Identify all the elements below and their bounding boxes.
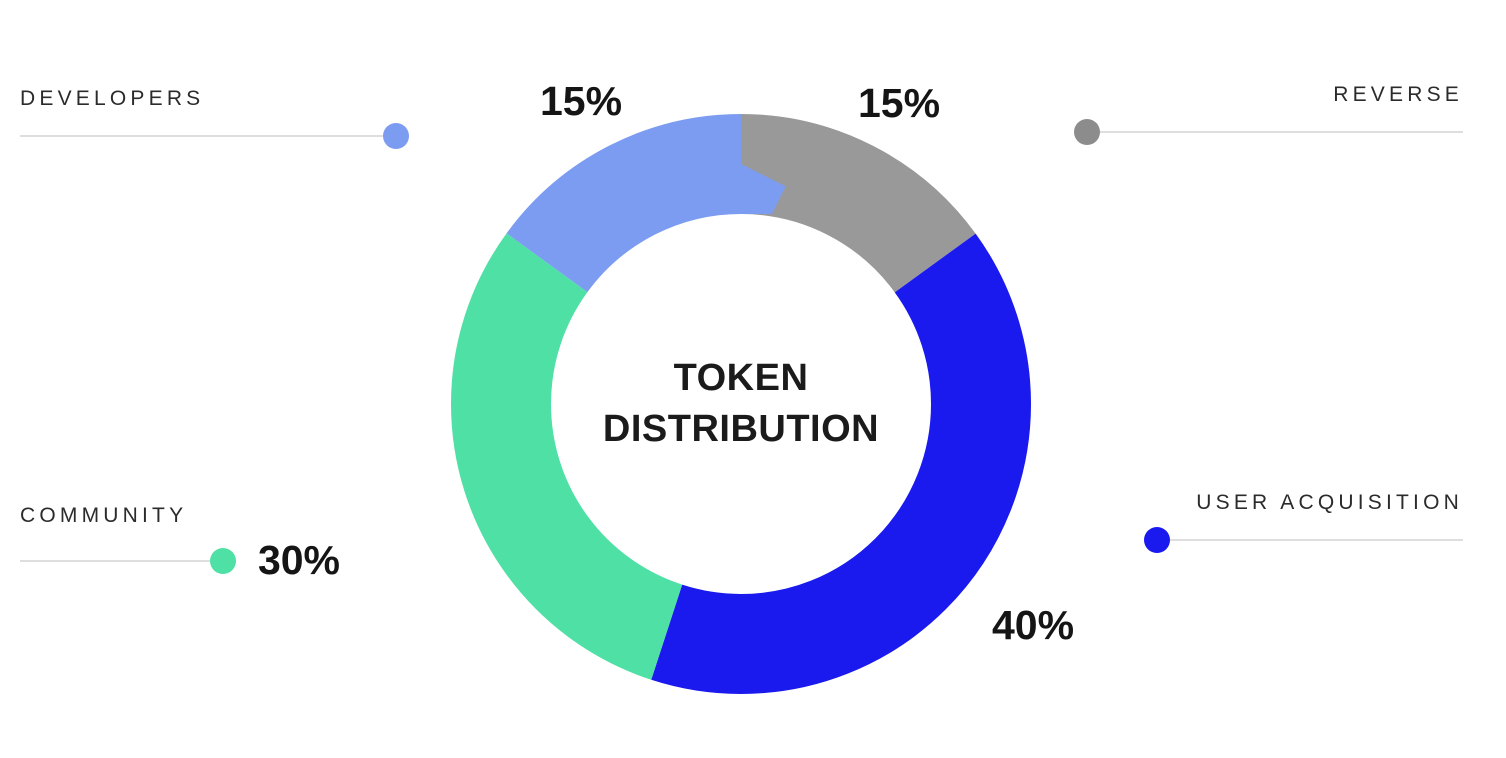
value-community: 30%	[258, 540, 340, 581]
connector-rule	[20, 560, 210, 562]
donut-chart	[451, 114, 1031, 694]
callout-label-developers: DEVELOPERS	[20, 88, 409, 109]
value-reverse: 15%	[858, 83, 940, 124]
legend-dot-reverse	[1074, 119, 1100, 145]
value-developers: 15%	[540, 81, 622, 122]
callout-developers[interactable]: DEVELOPERS	[20, 88, 409, 149]
legend-dot-user-acquisition	[1144, 527, 1170, 553]
callout-line-developers	[20, 123, 409, 149]
callout-label-community: COMMUNITY	[20, 505, 340, 526]
connector-rule	[20, 135, 383, 137]
connector-rule	[1100, 131, 1463, 133]
donut-segments	[501, 164, 981, 644]
callout-reverse[interactable]: REVERSE	[1074, 84, 1463, 145]
callout-line-community: 30%	[20, 540, 340, 581]
value-user-acquisition: 40%	[992, 605, 1074, 646]
callout-community[interactable]: COMMUNITY 30%	[20, 505, 340, 581]
callout-line-user-acquisition	[1144, 527, 1463, 553]
callout-user-acquisition[interactable]: USER ACQUISITION	[1144, 492, 1463, 553]
callout-label-reverse: REVERSE	[1333, 84, 1463, 105]
connector-rule	[1170, 539, 1463, 541]
token-distribution-infographic: TOKEN DISTRIBUTION 15% 15% 40% DEVELOPER…	[0, 0, 1506, 758]
legend-dot-developers	[383, 123, 409, 149]
callout-line-reverse	[1074, 119, 1463, 145]
callout-label-user-acquisition: USER ACQUISITION	[1196, 492, 1463, 513]
legend-dot-community	[210, 548, 236, 574]
